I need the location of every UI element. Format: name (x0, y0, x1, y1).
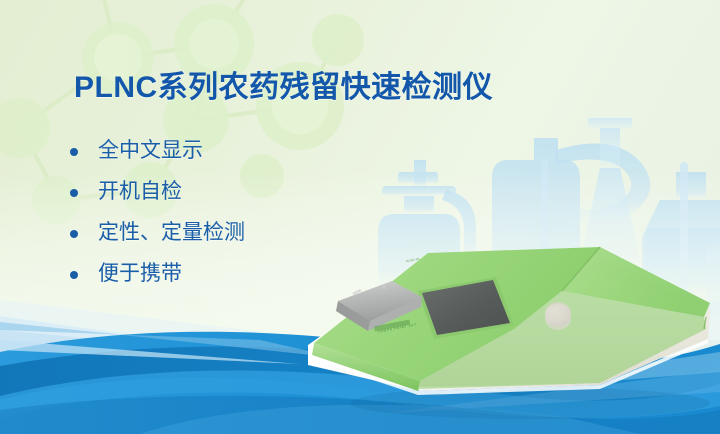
page-title: PLNC系列农药残留快速检测仪 (74, 62, 493, 106)
side-knob-button (545, 302, 571, 330)
list-item: 定性、定量检测 (62, 218, 245, 248)
list-item: 全中文显示 (62, 136, 245, 166)
copy-block: PLNC系列农药残留快速检测仪 全中文显示 开机自检 定性、定量检测 便于携带 (0, 0, 420, 330)
product-banner: PLNC系列农药残留快速检测仪 全中文显示 开机自检 定性、定量检测 便于携带 (0, 0, 720, 434)
list-item: 开机自检 (62, 177, 245, 207)
feature-list: 全中文显示 开机自检 定性、定量检测 便于携带 (62, 136, 245, 300)
list-item: 便于携带 (62, 259, 245, 289)
